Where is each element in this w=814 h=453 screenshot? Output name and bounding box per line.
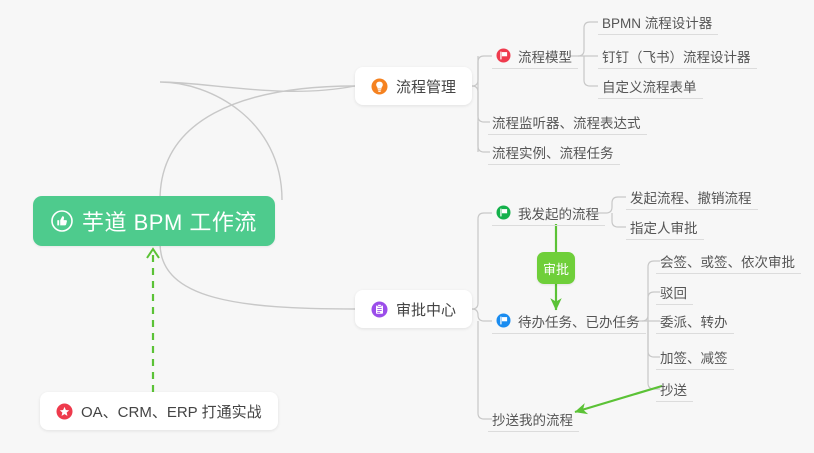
root-node[interactable]: 芋道 BPM 工作流 [33, 196, 275, 246]
connector-model-to-custom-form [584, 56, 598, 86]
connector-started-to-assignee [612, 213, 626, 227]
node-start-cancel-process[interactable]: 发起流程、撤销流程 [626, 184, 758, 210]
node-dingtalk-feishu-designer-label: 钉钉（飞书）流程设计器 [602, 46, 751, 66]
node-assignee-approval-label: 指定人审批 [630, 217, 698, 237]
node-custom-process-form-label: 自定义流程表单 [602, 76, 697, 96]
flag-icon [496, 205, 511, 220]
arrow-cc-to-cc-me [575, 386, 662, 412]
node-dingtalk-feishu-designer[interactable]: 钉钉（飞书）流程设计器 [598, 43, 757, 69]
node-process-instance-task[interactable]: 流程实例、流程任务 [488, 139, 620, 165]
node-process-listener-expression[interactable]: 流程监听器、流程表达式 [488, 109, 647, 135]
node-reject[interactable]: 驳回 [656, 279, 693, 305]
connector-root-to-process-management [160, 82, 355, 200]
annotation-approval-tag-label: 审批 [543, 259, 569, 278]
arrowhead-integration-to-root [147, 249, 159, 258]
node-start-cancel-process-label: 发起流程、撤销流程 [630, 187, 752, 207]
root-label: 芋道 BPM 工作流 [82, 205, 257, 237]
lightbulb-icon [371, 78, 388, 95]
node-approval-center-label: 审批中心 [396, 299, 456, 320]
node-my-started-process[interactable]: 我发起的流程 [492, 200, 605, 226]
node-countersign[interactable]: 会签、或签、依次审批 [656, 248, 801, 274]
node-cc-to-me-process[interactable]: 抄送我的流程 [488, 406, 579, 432]
node-cc-to-me-process-label: 抄送我的流程 [492, 409, 573, 429]
node-cc-label: 抄送 [660, 379, 687, 399]
thumbs-up-icon [51, 210, 73, 232]
node-assignee-approval[interactable]: 指定人审批 [626, 214, 704, 240]
node-process-management-label: 流程管理 [396, 76, 456, 97]
node-custom-process-form[interactable]: 自定义流程表单 [598, 73, 703, 99]
node-process-instance-task-label: 流程实例、流程任务 [492, 142, 614, 162]
connector-root-curve-lower [160, 243, 355, 309]
document-icon [371, 301, 388, 318]
node-process-model[interactable]: 流程模型 [492, 43, 578, 69]
node-process-model-label: 流程模型 [518, 46, 572, 66]
node-process-listener-expression-label: 流程监听器、流程表达式 [492, 112, 641, 132]
flag-icon [496, 48, 511, 63]
node-integration-practice-label: OA、CRM、ERP 打通实战 [81, 401, 262, 422]
node-delegate-transfer[interactable]: 委派、转办 [656, 308, 734, 334]
connector-ac-to-todo [472, 309, 492, 321]
node-todo-done-task-label: 待办任务、已办任务 [518, 311, 640, 331]
connector-ac-to-cc-me [478, 321, 492, 419]
node-my-started-process-label: 我发起的流程 [518, 203, 599, 223]
node-process-management[interactable]: 流程管理 [355, 67, 472, 105]
connector-root-curve-upper [160, 86, 355, 200]
node-cc[interactable]: 抄送 [656, 376, 693, 402]
flag-icon [496, 313, 511, 328]
node-todo-done-task[interactable]: 待办任务、已办任务 [492, 308, 646, 334]
node-add-remove-sign-label: 加签、减签 [660, 347, 728, 367]
node-add-remove-sign[interactable]: 加签、减签 [656, 344, 734, 370]
node-bpmn-designer[interactable]: BPMN 流程设计器 [598, 9, 718, 35]
node-countersign-label: 会签、或签、依次审批 [660, 251, 795, 271]
node-integration-practice[interactable]: OA、CRM、ERP 打通实战 [40, 392, 278, 430]
annotation-approval-tag: 审批 [537, 252, 575, 284]
node-reject-label: 驳回 [660, 282, 687, 302]
node-delegate-transfer-label: 委派、转办 [660, 311, 728, 331]
node-approval-center[interactable]: 审批中心 [355, 290, 472, 328]
node-bpmn-designer-label: BPMN 流程设计器 [602, 12, 712, 32]
star-icon [56, 403, 73, 420]
mindmap-canvas: 芋道 BPM 工作流 流程管理 审批中心 [0, 0, 814, 453]
